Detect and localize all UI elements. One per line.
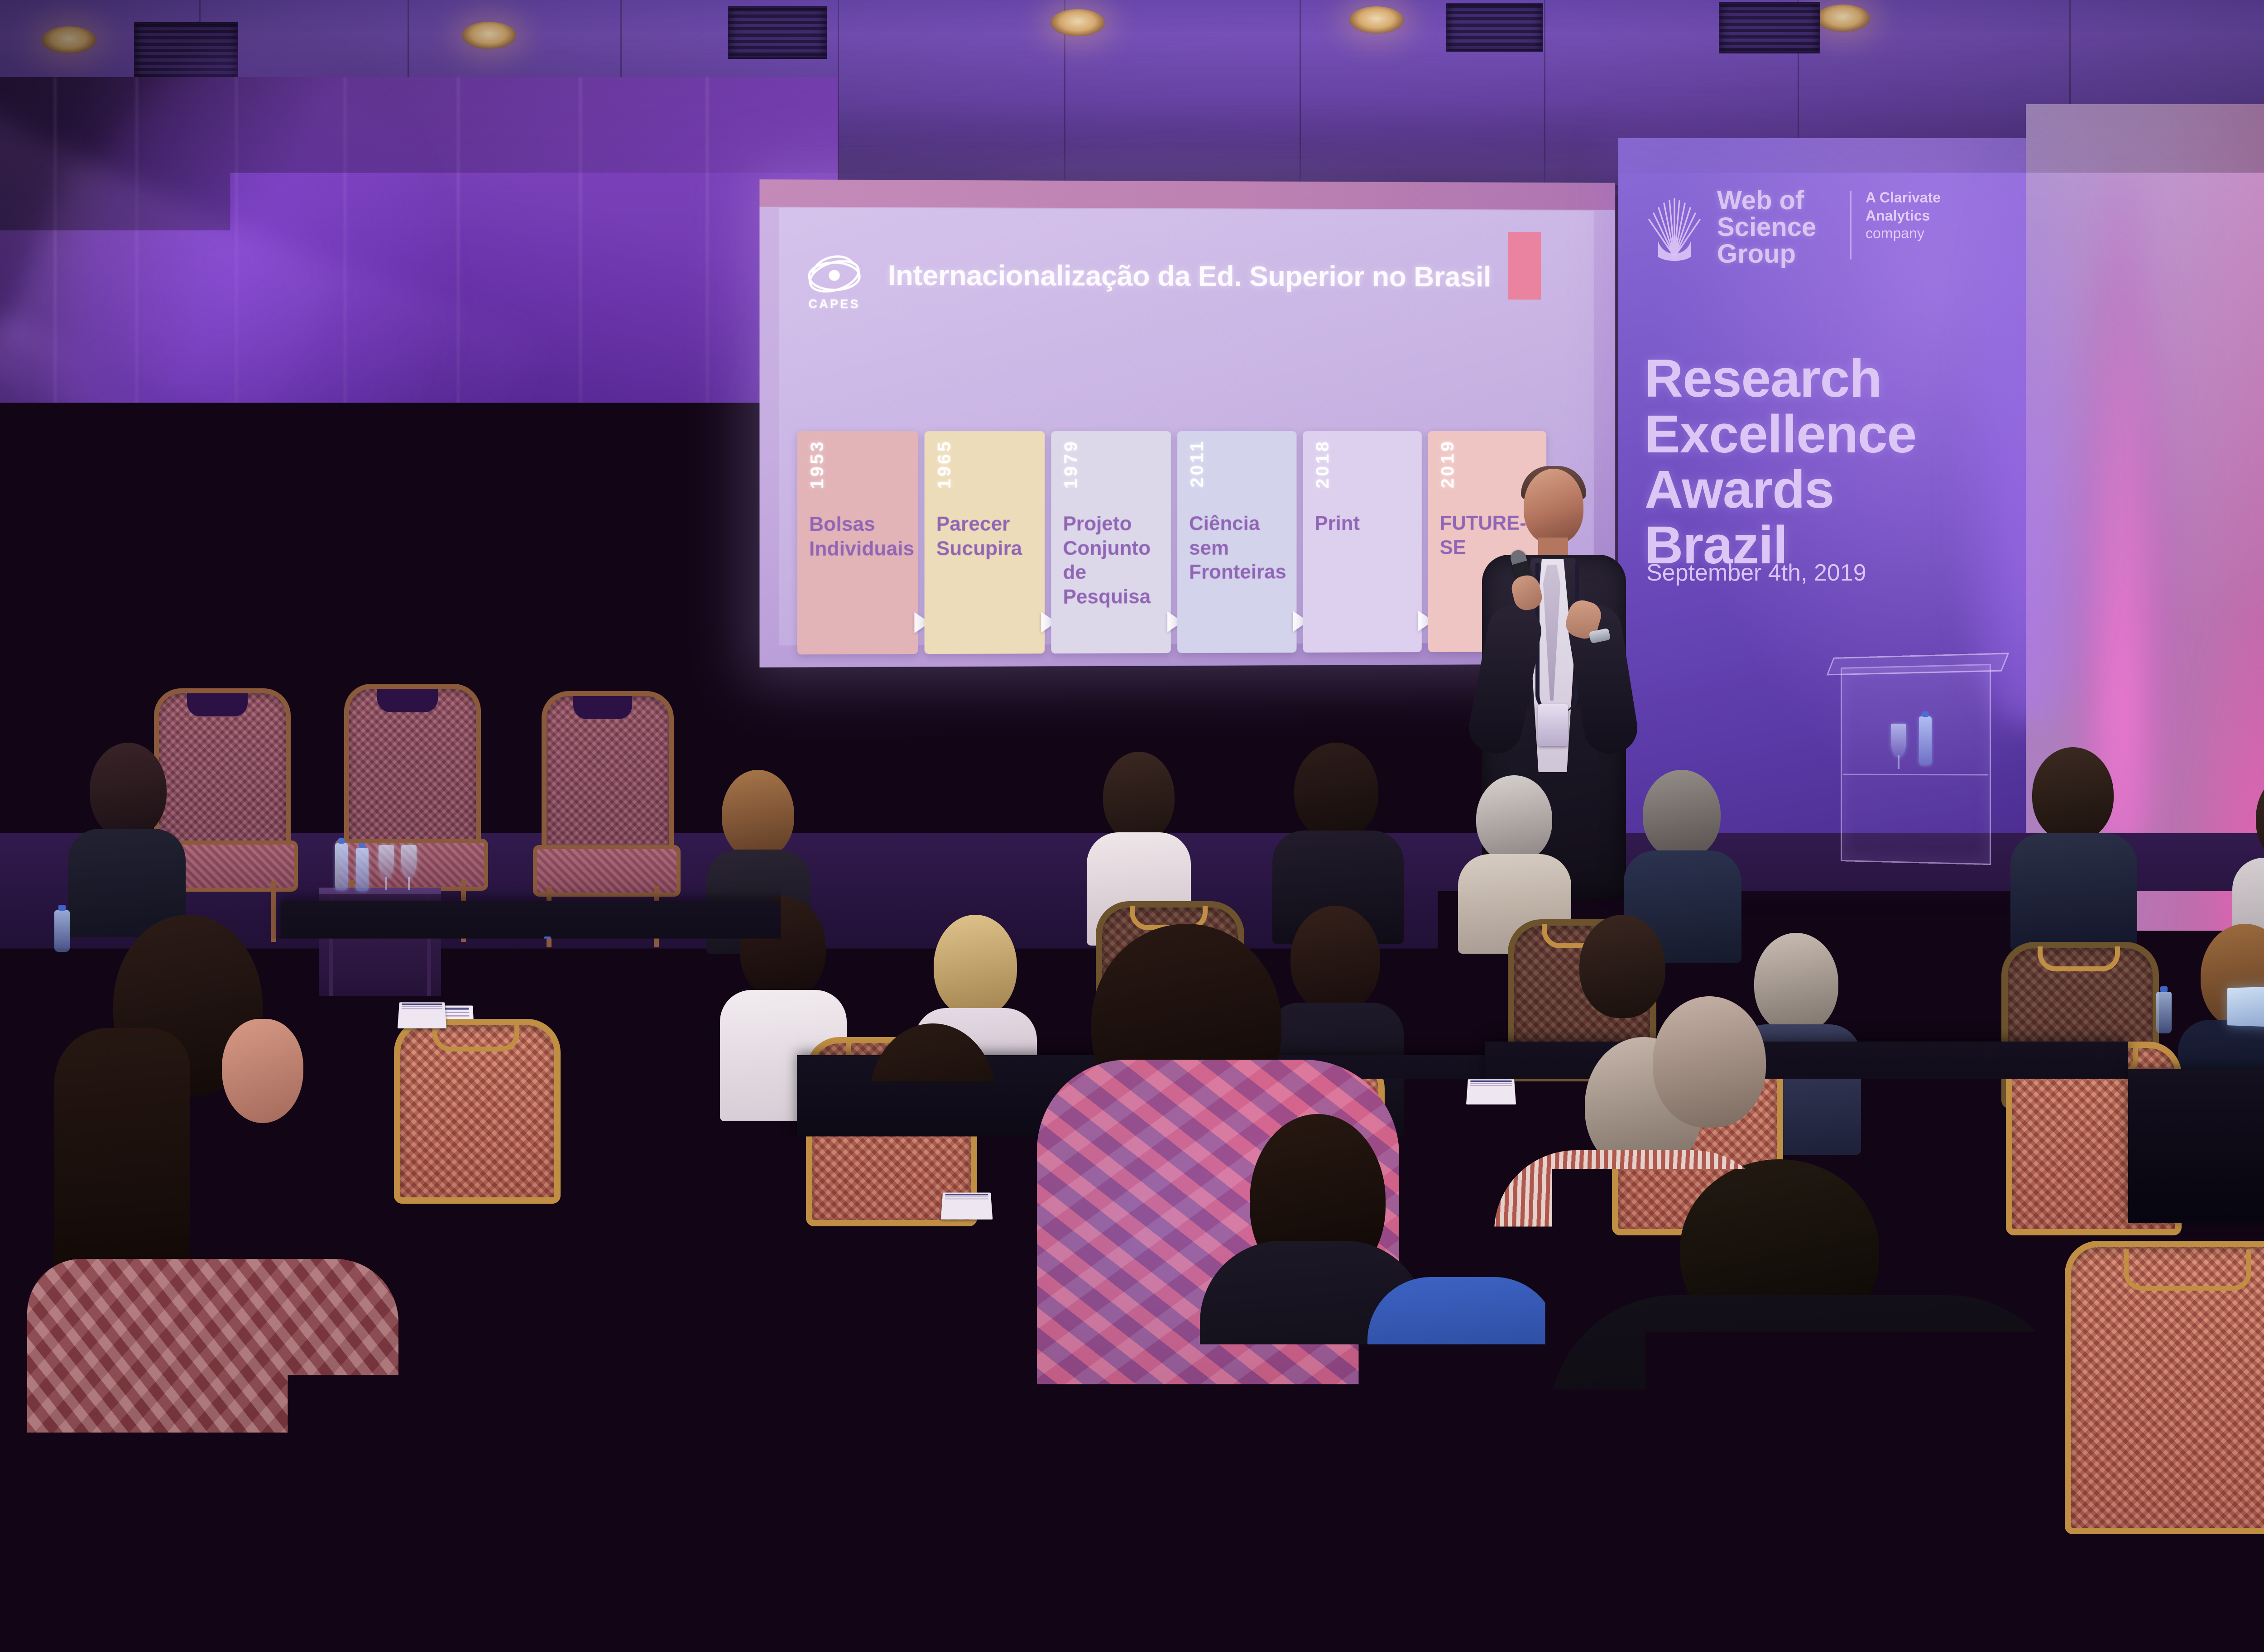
water-bottle[interactable]: [335, 843, 348, 890]
tagline-line-2: Analytics: [1866, 207, 1941, 225]
headline-line-3: Awards: [1645, 462, 1916, 518]
carpet: [1929, 1458, 2164, 1630]
wine-glass[interactable]: [379, 845, 394, 879]
wine-glass[interactable]: [401, 845, 417, 879]
timeline-label: Parecer Sucupira: [936, 512, 1037, 561]
speaker-badge: [1538, 704, 1568, 746]
carpet: [1386, 1422, 1666, 1612]
timeline-label: Ciência sem Fronteiras: [1189, 512, 1290, 585]
brand-line-1: Web of: [1717, 187, 1816, 214]
slide-timeline: 1953 Bolsas Individuais 1965 Parecer Suc…: [797, 431, 1547, 654]
timeline-year: 2011: [1187, 439, 1208, 488]
attendee-white-shirt: [788, 1023, 1060, 1304]
timeline-card: 2011 Ciência sem Fronteiras: [1177, 431, 1297, 653]
headline-line-1: Research: [1645, 351, 1916, 407]
timeline-year: 1965: [935, 439, 955, 489]
attendee: [68, 743, 186, 933]
timeline-label: Projeto Conjunto de Pesquisa: [1063, 512, 1164, 609]
ceiling-downlight: [1816, 5, 1870, 32]
lectern-wine-glass[interactable]: [1891, 724, 1906, 757]
timeline-card: 1953 Bolsas Individuais: [797, 431, 918, 654]
ballroom-floor: [0, 1440, 2264, 1652]
timeline-card: 1965 Parecer Sucupira: [925, 431, 1045, 654]
audience-table: [2128, 1069, 2264, 1223]
lectern-water-bottle[interactable]: [1919, 716, 1932, 765]
web-of-science-fan-icon: [1640, 189, 1709, 261]
water-bottle[interactable]: [540, 942, 555, 984]
event-headline: Research Excellence Awards Brazil: [1645, 351, 1916, 573]
attendee: [2010, 747, 2137, 946]
brand-name: Web of Science Group: [1717, 187, 1816, 267]
water-bottle[interactable]: [2156, 992, 2172, 1033]
headline-line-2: Excellence: [1645, 407, 1916, 462]
timeline-year: 2019: [1438, 439, 1458, 489]
ceiling-downlight: [42, 26, 96, 53]
ceiling-downlight: [1349, 6, 1404, 34]
ceiling-vent: [1446, 3, 1543, 52]
timeline-card: 1979 Projeto Conjunto de Pesquisa: [1051, 431, 1171, 653]
audience-chair[interactable]: [394, 1019, 548, 1191]
timeline-card: 2018 Print: [1303, 431, 1421, 653]
ceiling-vent: [728, 6, 827, 59]
attendee-right-striped: [1576, 996, 1820, 1250]
brand-line-3: Group: [1717, 240, 1816, 267]
timeline-year: 1953: [807, 439, 828, 489]
capes-logo: [806, 247, 865, 305]
speaker-head: [1524, 469, 1583, 544]
water-bottle[interactable]: [356, 848, 369, 891]
timeline-year: 1979: [1061, 439, 1081, 489]
timeline-label: Print: [1314, 511, 1415, 536]
brand-tagline: A Clarivate Analytics company: [1866, 189, 1941, 243]
ceiling-downlight: [462, 22, 516, 49]
brand-line-2: Science: [1717, 214, 1816, 240]
tagline-line-3: company: [1866, 225, 1941, 243]
screen-top-band: [759, 179, 1615, 210]
event-date: September 4th, 2019: [1646, 559, 1866, 586]
capes-label: CAPES: [800, 297, 869, 311]
tagline-line-1: A Clarivate: [1866, 189, 1941, 207]
ceiling-vent: [1719, 2, 1820, 53]
slide-accent-bar: [1508, 232, 1541, 299]
brand-divider: [1850, 191, 1851, 259]
slide-title: Internacionalização da Ed. Superior no B…: [888, 259, 1491, 293]
acrylic-lectern: [1841, 664, 1991, 865]
conference-photo: CAPES Internacionalização da Ed. Superio…: [0, 0, 2264, 1652]
ceiling-downlight: [1050, 9, 1105, 36]
timeline-year: 2018: [1313, 439, 1333, 489]
timeline-label: Bolsas Individuais: [809, 512, 911, 561]
laptop-screen[interactable]: [2227, 986, 2264, 1027]
